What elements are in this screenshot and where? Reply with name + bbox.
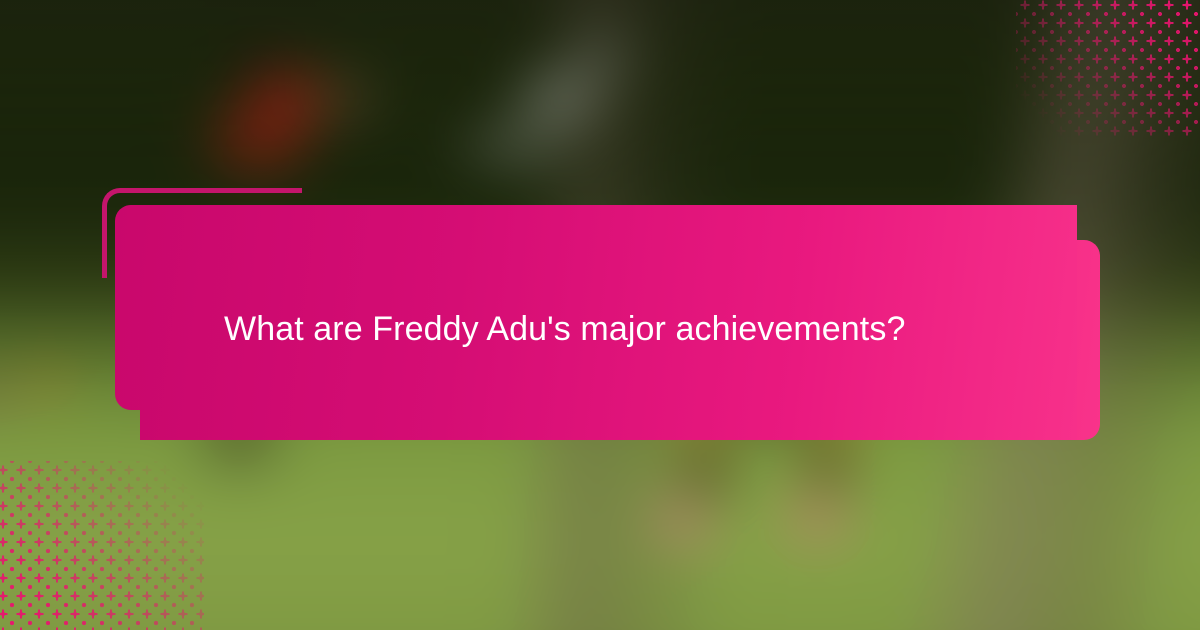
- question-card-canvas: What are Freddy Adu's major achievements…: [0, 0, 1200, 630]
- question-text: What are Freddy Adu's major achievements…: [224, 306, 1054, 352]
